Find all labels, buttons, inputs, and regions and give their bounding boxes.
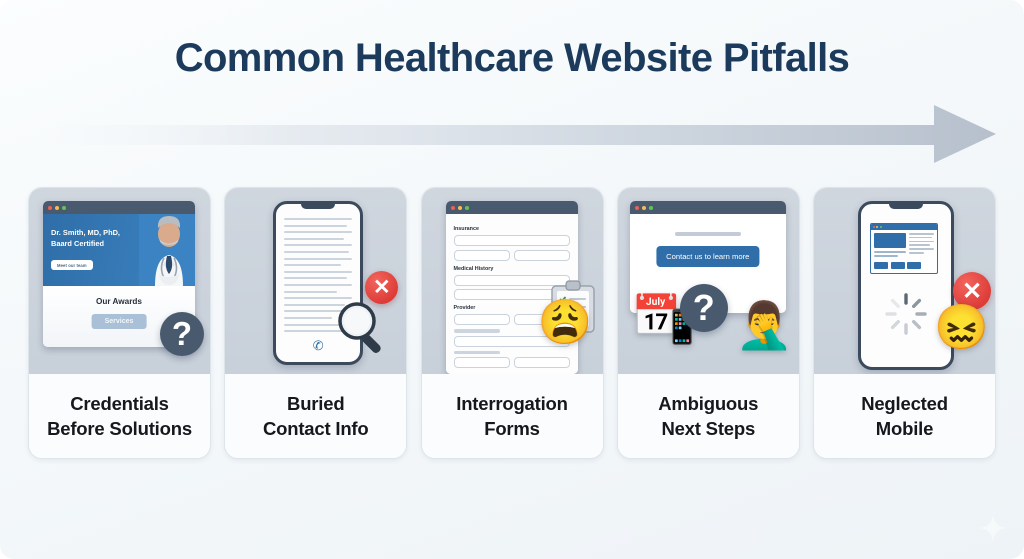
site-hero-block	[874, 233, 906, 259]
card-label-line1: Buried	[287, 391, 344, 416]
card-label-mobile: Neglected Mobile	[814, 374, 995, 458]
card-label-line2: Before Solutions	[47, 416, 192, 441]
window-maximize-dot-icon	[62, 206, 66, 210]
weary-face-emoji: 😩	[538, 301, 593, 345]
pitfall-card-list: Dr. Smith, MD, PhD, Baard Certified Meet…	[28, 187, 996, 457]
desktop-site-preview	[870, 223, 938, 274]
hero-badge-button[interactable]: Meet our team	[51, 260, 93, 270]
site-tiles	[871, 262, 937, 273]
progress-arrow	[54, 103, 996, 165]
card-visual-contact-info: ✆ ✕	[225, 188, 406, 374]
headline-placeholder-bar	[675, 232, 741, 236]
phone-notch	[301, 204, 335, 209]
field-placeholder-bar	[454, 351, 500, 355]
question-mark-icon: ?	[680, 284, 728, 332]
site-text-block	[909, 233, 934, 259]
pitfall-card-forms[interactable]: Insurance Medical History Provider	[421, 187, 604, 459]
magnifying-glass-icon	[334, 298, 392, 356]
browser-titlebar	[43, 201, 195, 214]
phone-receiver-icon: ✆	[313, 338, 324, 354]
cta-button[interactable]: Contact us to learn more	[656, 246, 759, 267]
services-button[interactable]: Services	[92, 314, 147, 329]
infographic-canvas: Common Healthcare Website Pitfalls	[0, 0, 1024, 559]
hero-banner: Dr. Smith, MD, PhD, Baard Certified Meet…	[43, 214, 195, 286]
card-visual-forms: Insurance Medical History Provider	[422, 188, 603, 374]
card-visual-mobile: ✕ 😖	[814, 188, 995, 374]
form-input[interactable]	[514, 250, 570, 261]
pitfall-card-credentials[interactable]: Dr. Smith, MD, PhD, Baard Certified Meet…	[28, 187, 211, 459]
hero-headline: Dr. Smith, MD, PhD, Baard Certified	[51, 228, 143, 249]
card-label-credentials: Credentials Before Solutions	[29, 374, 210, 458]
form-input[interactable]	[454, 235, 570, 246]
form-input[interactable]	[514, 357, 570, 368]
form-input[interactable]	[454, 314, 510, 325]
card-label-line1: Credentials	[70, 391, 169, 416]
form-input[interactable]	[454, 250, 510, 261]
loading-spinner-icon	[884, 292, 928, 336]
card-label-line1: Interrogation	[456, 391, 567, 416]
card-label-contact-info: Buried Contact Info	[225, 374, 406, 458]
card-visual-credentials: Dr. Smith, MD, PhD, Baard Certified Meet…	[29, 188, 210, 374]
field-label-insurance: Insurance	[454, 226, 570, 232]
hero-headline-line1: Dr. Smith, MD, PhD,	[51, 228, 143, 239]
card-visual-next-steps: Contact us to learn more 📅 📱 ? 🤦‍♂️	[618, 188, 799, 374]
window-minimize-dot-icon	[642, 206, 646, 210]
field-placeholder-bar	[454, 329, 500, 333]
window-close-dot-icon	[873, 226, 875, 228]
browser-titlebar	[446, 201, 578, 214]
field-label-medical-history: Medical History	[454, 266, 570, 272]
doctor-photo	[139, 214, 195, 286]
card-label-line2: Contact Info	[263, 416, 369, 441]
window-close-dot-icon	[48, 206, 52, 210]
confounded-face-emoji: 😖	[934, 306, 989, 350]
question-mark-icon: ?	[160, 312, 204, 356]
card-label-line1: Neglected	[861, 391, 948, 416]
page-title: Common Healthcare Website Pitfalls	[0, 36, 1024, 81]
card-label-line2: Forms	[484, 416, 540, 441]
card-label-line2: Next Steps	[661, 416, 755, 441]
card-label-forms: Interrogation Forms	[422, 374, 603, 458]
phone-notch	[889, 204, 923, 209]
window-maximize-dot-icon	[649, 206, 653, 210]
section-heading: Our Awards	[43, 297, 195, 306]
window-minimize-dot-icon	[458, 206, 462, 210]
card-label-line1: Ambiguous	[658, 391, 758, 416]
facepalm-emoji: 🤦‍♂️	[735, 302, 792, 348]
pitfall-card-contact-info[interactable]: ✆ ✕ Buried Contact Info	[224, 187, 407, 459]
window-maximize-dot-icon	[465, 206, 469, 210]
browser-titlebar	[630, 201, 786, 214]
card-label-line2: Mobile	[876, 416, 933, 441]
form-input[interactable]	[454, 357, 510, 368]
window-maximize-dot-icon	[880, 226, 882, 228]
window-minimize-dot-icon	[55, 206, 59, 210]
sparkle-icon	[978, 513, 1008, 543]
pitfall-card-next-steps[interactable]: Contact us to learn more 📅 📱 ? 🤦‍♂️ Ambi…	[617, 187, 800, 459]
error-badge-icon: ✕	[365, 271, 398, 304]
window-close-dot-icon	[451, 206, 455, 210]
pitfall-card-mobile[interactable]: ✕ 😖 Neglected Mobile	[813, 187, 996, 459]
window-close-dot-icon	[635, 206, 639, 210]
card-label-next-steps: Ambiguous Next Steps	[618, 374, 799, 458]
progress-arrow-icon	[54, 103, 996, 165]
window-minimize-dot-icon	[876, 226, 878, 228]
hero-headline-line2: Baard Certified	[51, 239, 143, 250]
